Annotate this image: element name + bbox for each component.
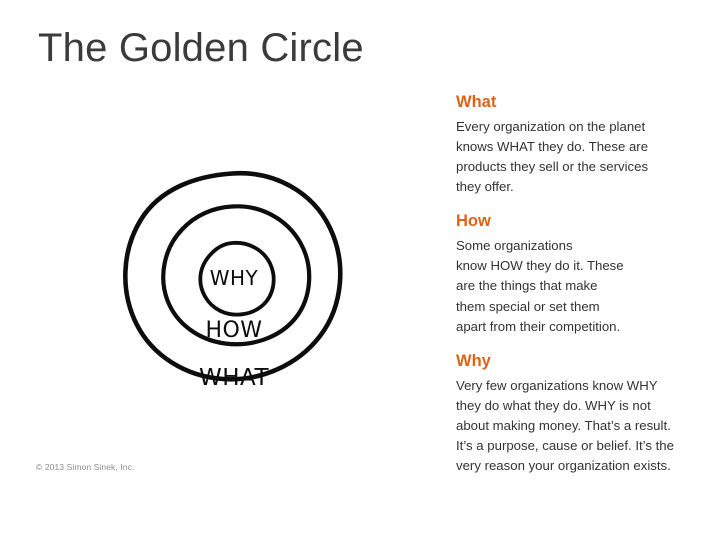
section-how: How Some organizations know HOW they do …	[456, 211, 688, 337]
section-what-body: Every organization on the planet knows W…	[456, 117, 688, 198]
golden-circle-diagram: WHY HOW WHAT	[108, 140, 358, 405]
section-what-heading: What	[456, 92, 688, 113]
text-line: Some organizations	[456, 236, 688, 256]
slide-canvas: The Golden Circle WHY HOW WHAT What	[0, 0, 720, 540]
text-line: know HOW they do it. These	[456, 256, 688, 276]
text-line: products they sell or the services	[456, 157, 688, 177]
copyright-notice: © 2013 Simon Sinek, Inc.	[36, 462, 134, 472]
text-line: they offer.	[456, 177, 688, 197]
content-column: What Every organization on the planet kn…	[456, 92, 688, 477]
diagram-label-how: HOW	[205, 318, 262, 343]
section-what: What Every organization on the planet kn…	[456, 92, 688, 197]
text-line: apart from their competition.	[456, 317, 688, 337]
section-how-body: Some organizations know HOW they do it. …	[456, 236, 688, 337]
text-line: are the things that make	[456, 276, 688, 296]
text-line: they do what they do. WHY is not	[456, 396, 688, 416]
page-title: The Golden Circle	[38, 25, 364, 71]
text-line: them special or set them	[456, 297, 688, 317]
text-line: very reason your organization exists.	[456, 456, 688, 476]
diagram-label-what: WHAT	[199, 365, 269, 391]
section-why-body: Very few organizations know WHY they do …	[456, 376, 688, 477]
text-line: Every organization on the planet	[456, 117, 688, 137]
text-line: knows WHAT they do. These are	[456, 137, 688, 157]
text-line: about making money. That’s a result.	[456, 416, 688, 436]
text-line: Very few organizations know WHY	[456, 376, 688, 396]
text-line: It’s a purpose, cause or belief. It’s th…	[456, 436, 688, 456]
section-how-heading: How	[456, 211, 688, 232]
diagram-label-why: WHY	[210, 266, 259, 290]
section-why-heading: Why	[456, 351, 688, 372]
section-why: Why Very few organizations know WHY they…	[456, 351, 688, 477]
